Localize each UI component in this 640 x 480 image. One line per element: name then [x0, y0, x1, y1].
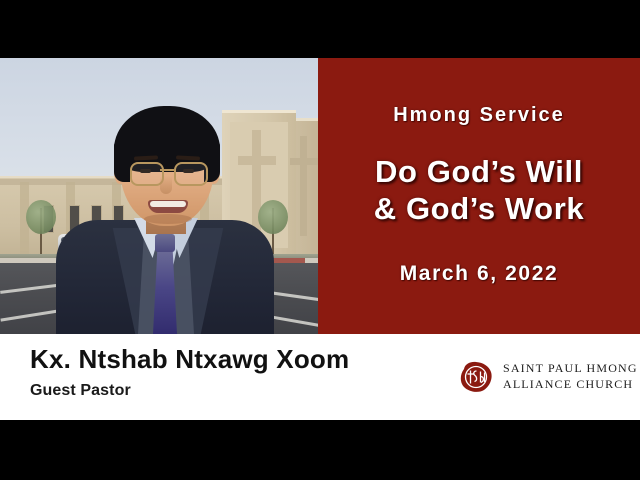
service-date: March 6, 2022 — [400, 262, 559, 286]
sermon-title-line-1: Do God’s Will — [374, 153, 584, 190]
speaker-name: Kx. Ntshab Ntxawg Xoom — [30, 344, 349, 375]
sermon-title: Do God’s Will & God’s Work — [374, 153, 584, 227]
eyeglasses-left-lens — [130, 162, 164, 186]
church-logo-line-2: ALLIANCE CHURCH — [503, 377, 638, 393]
necktie-knot — [155, 234, 175, 252]
service-label: Hmong Service — [393, 104, 565, 127]
mouth — [148, 200, 188, 213]
speaker-bar: Kx. Ntshab Ntxawg Xoom Guest Pastor SAIN… — [0, 334, 640, 420]
sermon-title-card: Hmong Service Do God’s Will & God’s Work… — [0, 0, 640, 480]
church-logo: SAINT PAUL HMONG ALLIANCE CHURCH — [458, 360, 638, 394]
title-panel: Hmong Service Do God’s Will & God’s Work… — [318, 58, 640, 334]
cross-icon — [300, 136, 307, 236]
letterbox-bar-top — [0, 0, 640, 58]
teeth — [150, 201, 186, 207]
letterbox-bar-bottom — [0, 420, 640, 480]
content-band: Hmong Service Do God’s Will & God’s Work… — [0, 58, 640, 334]
cross-icon — [290, 158, 318, 165]
speaker-role: Guest Pastor — [30, 382, 349, 400]
chin-shadow — [144, 214, 192, 224]
speaker-block: Kx. Ntshab Ntxawg Xoom Guest Pastor — [30, 344, 349, 400]
church-seal-icon — [458, 360, 494, 394]
eyeglasses-bridge — [160, 169, 174, 171]
church-logo-line-1: SAINT PAUL HMONG — [503, 361, 638, 377]
eyeglasses-right-lens — [174, 162, 208, 186]
pastor-portrait — [52, 88, 278, 334]
hero-photo — [0, 58, 318, 334]
church-logo-text: SAINT PAUL HMONG ALLIANCE CHURCH — [503, 361, 638, 393]
hair-side-left — [114, 138, 130, 182]
sermon-title-line-2: & God’s Work — [374, 190, 584, 227]
nose — [160, 176, 172, 194]
